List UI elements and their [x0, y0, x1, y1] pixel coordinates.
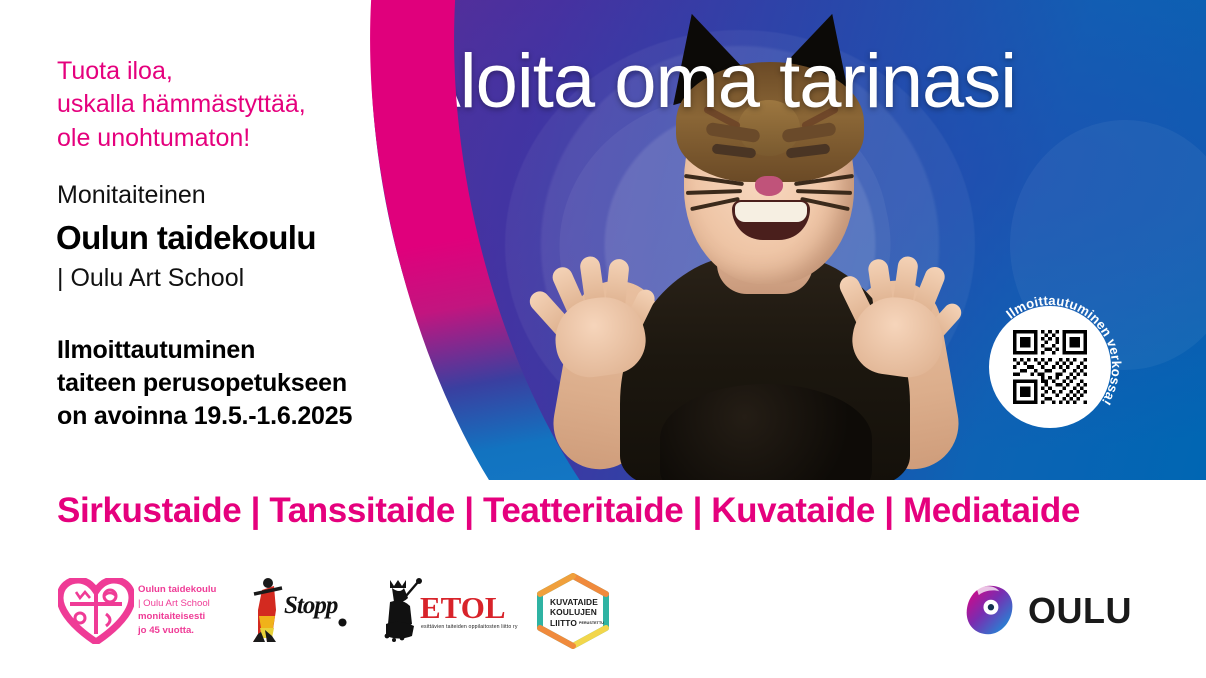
etol-crest-icon [378, 574, 422, 644]
notice-line-2: taiteen perusopetukseen [57, 367, 417, 400]
kuva-tiny-1: PERUSTETTU [579, 621, 604, 625]
heart-line-2: | Oulu Art School [138, 597, 216, 611]
logo-oulun-taidekoulu[interactable]: Oulun taidekoulu | Oulu Art School monit… [58, 574, 238, 650]
heart-logo-text: Oulun taidekoulu | Oulu Art School monit… [138, 583, 216, 637]
dancer-figure-icon [248, 576, 288, 646]
partner-logo-strip: Oulun taidekoulu | Oulu Art School monit… [0, 560, 1206, 670]
logo-oulu-city[interactable]: OULU [962, 580, 1132, 642]
teeth [735, 202, 807, 222]
etol-subtitle: esittävien taiteiden oppilaitosten liitt… [421, 624, 518, 630]
notice-line-3: on avoinna 19.5.-1.6.2025 [57, 400, 417, 433]
etol-wordmark: ETOL [420, 590, 506, 626]
stopp-dot-icon [338, 618, 347, 627]
logo-stopp[interactable]: Stopp [248, 576, 358, 646]
claw-hand-right [834, 246, 968, 383]
art-disciplines-tagline: Sirkustaide | Tanssitaide | Teatteritaid… [57, 491, 1080, 531]
logo-kuvataidekoulujen-liitto[interactable]: KUVATAIDE KOULUJEN LIITTOPERUSTETTU [528, 570, 618, 652]
kicker-line-1: Tuota iloa, [57, 55, 397, 88]
heart-line-3: monitaiteisesti [138, 610, 216, 624]
painted-nose [755, 176, 783, 196]
notice-line-1: Ilmoittautuminen [57, 334, 417, 367]
school-name-fi: Oulun taidekoulu [56, 219, 316, 257]
kicker-line-3: ole unohtumaton! [57, 122, 397, 155]
registration-notice: Ilmoittautuminen taiteen perusopetukseen… [57, 334, 417, 433]
kicker-text: Tuota iloa, uskalla hämmästyttää, ole un… [57, 55, 397, 155]
claw-hand-left [530, 246, 664, 383]
kuva-line-3: LIITTO [550, 618, 577, 628]
qr-registration-badge[interactable]: Ilmoittautuminen verkossa! [975, 292, 1125, 442]
kuvataide-logo-text: KUVATAIDE KOULUJEN LIITTOPERUSTETTU [550, 597, 604, 628]
logo-etol[interactable]: ETOL esittävien taiteiden oppilaitosten … [378, 574, 508, 646]
qr-code-icon[interactable] [1013, 330, 1087, 404]
oulu-blob-icon [962, 582, 1018, 638]
oulu-wordmark: OULU [1028, 590, 1132, 632]
kicker-line-2: uskalla hämmästyttää, [57, 88, 397, 121]
school-name-en: | Oulu Art School [57, 264, 244, 293]
heart-line-4: jo 45 vuotta. [138, 624, 216, 638]
kuva-line-2: KOULUJEN [550, 607, 604, 617]
hero-headline: Aloita oma tarinasi [410, 44, 1180, 120]
heart-icon [58, 578, 134, 644]
kuva-line-1: KUVATAIDE [550, 597, 604, 607]
school-descriptor: Monitaiteinen [57, 181, 206, 210]
stopp-wordmark: Stopp [284, 592, 337, 620]
poster-root: Aloita oma tarinasi Ilmoittautuminen ver… [0, 0, 1206, 678]
heart-line-1: Oulun taidekoulu [138, 583, 216, 597]
